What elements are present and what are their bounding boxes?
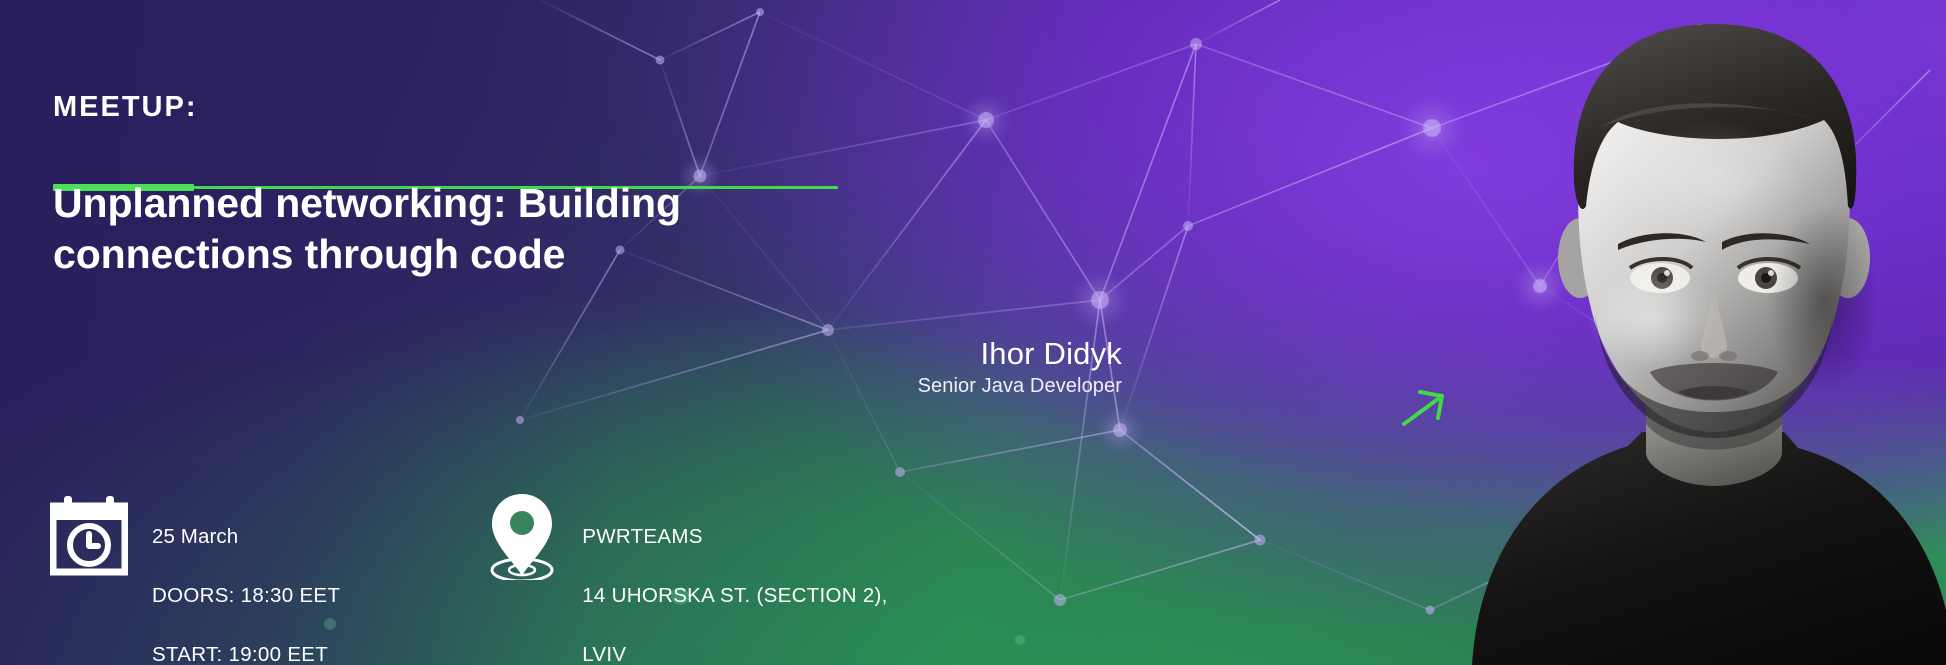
calendar-clock-icon [50, 492, 128, 581]
page-title: Unplanned networking: Building connectio… [53, 178, 773, 281]
venue-name: PWRTEAMS [582, 522, 887, 552]
event-details: 25 March DOORS: 18:30 EET START: 19:00 E… [50, 492, 888, 665]
date-time-text: 25 March DOORS: 18:30 EET START: 19:00 E… [152, 492, 340, 665]
location-text: PWRTEAMS 14 UHORSKA ST. (SECTION 2), LVI… [582, 492, 887, 665]
speaker-info: Ihor Didyk Senior Java Developer [918, 336, 1122, 400]
speaker-photo [1080, 0, 1946, 665]
venue-address: 14 UHORSKA ST. (SECTION 2), [582, 581, 887, 611]
event-date: 25 March [152, 522, 340, 552]
speaker-name: Ihor Didyk [918, 336, 1122, 373]
event-doors-time: DOORS: 18:30 EET [152, 581, 340, 611]
venue-city: LVIV [582, 640, 887, 665]
location-block: PWRTEAMS 14 UHORSKA ST. (SECTION 2), LVI… [486, 492, 887, 665]
arrow-up-right-icon [1398, 384, 1450, 441]
date-time-block: 25 March DOORS: 18:30 EET START: 19:00 E… [50, 492, 340, 665]
event-start-time: START: 19:00 EET [152, 640, 340, 665]
map-pin-icon [486, 492, 558, 585]
meetup-banner: MEETUP: Unplanned networking: Building c… [0, 0, 1946, 665]
speaker-role: Senior Java Developer [918, 373, 1122, 400]
kicker-label: MEETUP: [53, 93, 198, 122]
